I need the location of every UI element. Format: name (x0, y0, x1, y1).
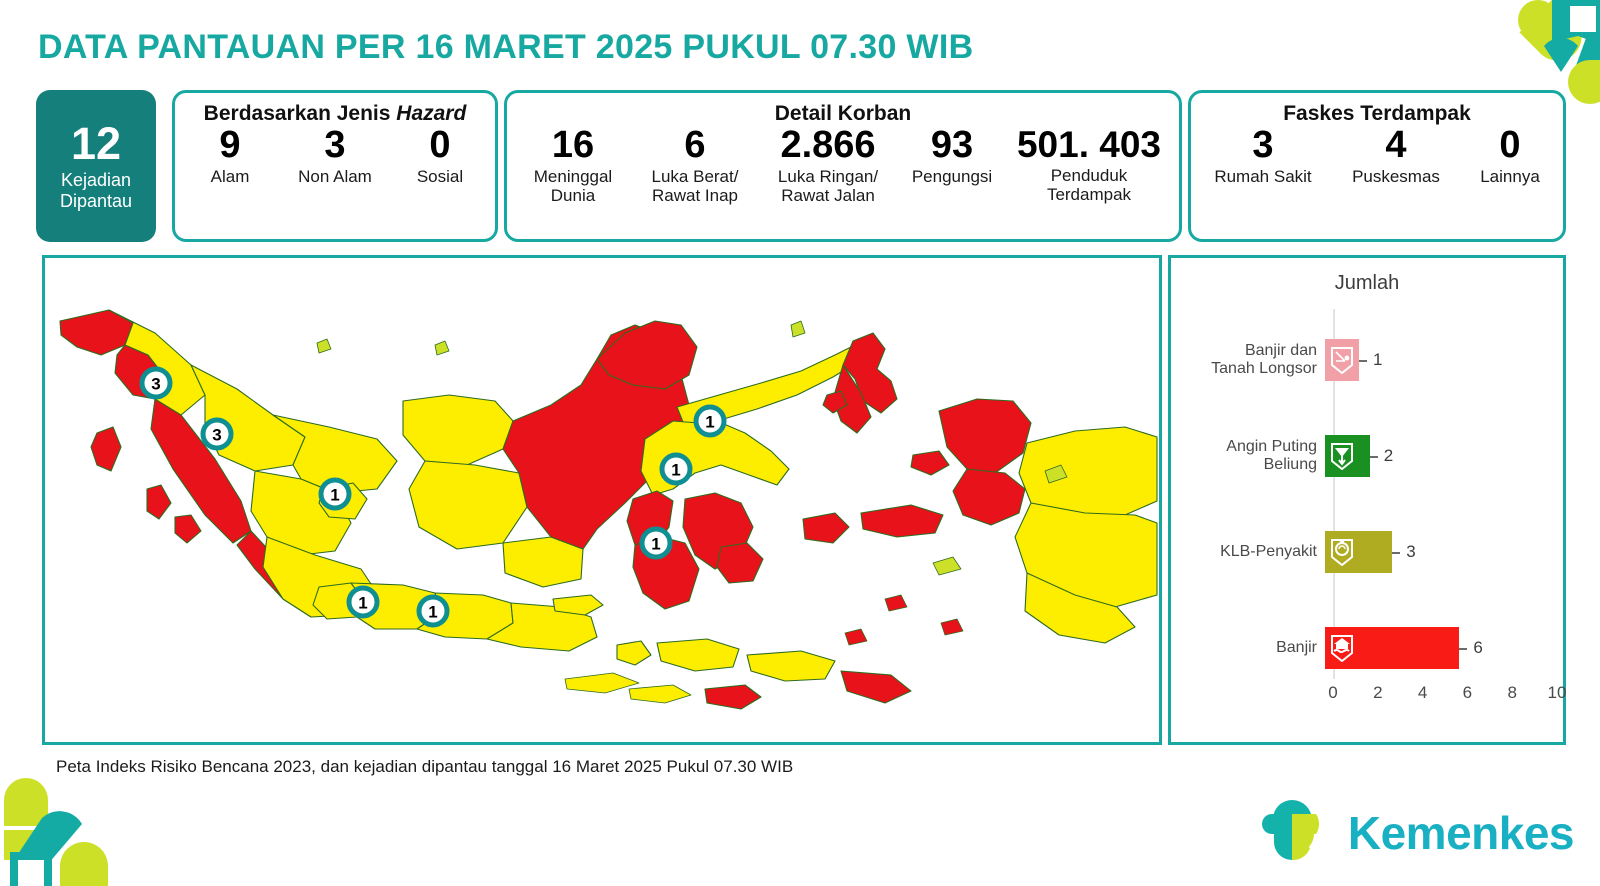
faskes-panel-title: Faskes Terdampak (1191, 102, 1563, 126)
hazard-title-normal: Berdasarkan Jenis (204, 102, 397, 125)
region-kalteng (409, 461, 527, 549)
hazard-item-alam: 9 Alam (184, 126, 276, 186)
islet-group-c (791, 321, 805, 337)
chart-bar-label: Banjir (1185, 639, 1325, 657)
korban-item-luka-berat: 6 Luka Berat/ Rawat Inap (632, 126, 758, 205)
korban-pengungsi-label: Pengungsi (902, 167, 1002, 186)
landslide-icon (1327, 344, 1357, 376)
map-marker-3[interactable]: 1 (321, 480, 349, 508)
hazard-title-italic: Hazard (396, 102, 466, 125)
korban-item-penduduk: 501. 403 Penduduk Terdampak (1006, 126, 1172, 204)
chart-x-tick: 8 (1507, 683, 1516, 703)
map-marker-6[interactable]: 1 (696, 407, 724, 435)
chart-bar-wrap: 1 (1325, 337, 1359, 383)
chart-bar-label: Angin PutingBeliung (1185, 438, 1325, 474)
map-marker-count: 1 (358, 594, 367, 613)
island-lombok-sumbawa (657, 639, 739, 671)
map-marker-count: 3 (212, 426, 221, 445)
disease-outbreak-icon (1327, 536, 1357, 568)
chart-title: Jumlah (1171, 272, 1563, 295)
indonesia-risk-map[interactable]: 33111111 (45, 258, 1159, 742)
chart-x-tick: 0 (1328, 683, 1337, 703)
map-marker-7[interactable]: 1 (662, 455, 690, 483)
flood-house-icon (1327, 632, 1357, 664)
islet-group-b (435, 341, 449, 355)
faskes-puskesmas-value: 4 (1336, 126, 1456, 166)
chart-bar-label: Banjir danTanah Longsor (1185, 342, 1325, 378)
hazard-panel-title: Berdasarkan Jenis Hazard (175, 102, 495, 126)
korban-panel-title: Detail Korban (507, 102, 1179, 126)
kemenkes-brand: Kemenkes (1252, 794, 1574, 872)
region-papua-barat-south (953, 469, 1025, 525)
hazard-alam-value: 9 (188, 126, 272, 166)
hazard-item-non-alam: 3 Non Alam (276, 126, 394, 186)
korban-luka-ringan-value: 2.866 (762, 126, 894, 166)
map-marker-count: 1 (671, 461, 680, 480)
faskes-lainnya-label: Lainnya (1464, 167, 1556, 186)
risk-map-panel[interactable]: 33111111 (42, 255, 1162, 745)
chart-x-tick: 4 (1418, 683, 1427, 703)
korban-luka-berat-label: Luka Berat/ Rawat Inap (636, 167, 754, 205)
island-sumba (705, 685, 761, 709)
hazard-sosial-label: Sosial (398, 167, 482, 186)
kejadian-value: 12 (71, 121, 121, 166)
chart-bar-wrap: 6 (1325, 625, 1459, 671)
map-marker-count: 3 (151, 375, 160, 394)
hazard-alam-label: Alam (188, 167, 272, 186)
islet-group-a (317, 339, 331, 353)
island-mentawai-2 (175, 515, 201, 543)
chart-bar-row: Banjir6 (1185, 625, 1549, 671)
chart-x-tick: 2 (1373, 683, 1382, 703)
chart-bar-value: 2 (1370, 446, 1393, 466)
island-nias (91, 427, 121, 471)
faskes-rumah-sakit-value: 3 (1198, 126, 1328, 166)
map-marker-count: 1 (330, 486, 339, 505)
faskes-rumah-sakit-label: Rumah Sakit (1198, 167, 1328, 186)
faskes-panel: Faskes Terdampak 3 Rumah Sakit 4 Puskesm… (1188, 90, 1566, 242)
chart-bar-row: Angin PutingBeliung2 (1185, 433, 1549, 479)
region-papua-barat-red (939, 399, 1031, 473)
chart-bar-wrap: 2 (1325, 433, 1370, 479)
chart-bar-wrap: 3 (1325, 529, 1392, 575)
chart-bar[interactable]: 3 (1325, 531, 1392, 573)
map-marker-count: 1 (428, 603, 437, 622)
korban-meninggal-value: 16 (518, 126, 628, 166)
chart-x-tick: 10 (1548, 683, 1567, 703)
korban-item-luka-ringan: 2.866 Luka Ringan/ Rawat Jalan (758, 126, 898, 205)
faskes-item-puskesmas: 4 Puskesmas (1332, 126, 1460, 186)
chart-bar[interactable]: 1 (1325, 339, 1359, 381)
hazard-item-sosial: 0 Sosial (394, 126, 486, 186)
island-timor (841, 671, 911, 703)
map-marker-8[interactable]: 1 (642, 529, 670, 557)
chart-bar-label: KLB-Penyakit (1185, 543, 1325, 561)
stats-row: 12 Kejadian Dipantau Berdasarkan Jenis H… (36, 90, 1566, 242)
faskes-item-rumah-sakit: 3 Rumah Sakit (1194, 126, 1332, 186)
korban-panel: Detail Korban 16 Meninggal Dunia 6 Luka … (504, 90, 1182, 242)
faskes-puskesmas-label: Puskesmas (1336, 167, 1456, 186)
korban-luka-berat-value: 6 (636, 126, 754, 166)
island-flores (747, 651, 835, 681)
map-marker-2[interactable]: 3 (203, 420, 231, 448)
chart-bar[interactable]: 2 (1325, 435, 1370, 477)
korban-meninggal-label: Meninggal Dunia (518, 167, 628, 205)
islet-group-f (885, 595, 907, 611)
map-marker-count: 1 (651, 535, 660, 554)
kejadian-dipantau-card: 12 Kejadian Dipantau (36, 90, 156, 242)
island-seram (861, 505, 943, 537)
map-marker-5[interactable]: 1 (419, 597, 447, 625)
faskes-lainnya-value: 0 (1464, 126, 1556, 166)
map-marker-1[interactable]: 3 (142, 369, 170, 397)
island-madura (553, 595, 603, 615)
decoration-bottom-left (0, 770, 140, 886)
korban-item-meninggal: 16 Meninggal Dunia (514, 126, 632, 205)
hazard-count-chart-panel: Jumlah Banjir danTanah Longsor1Angin Put… (1168, 255, 1566, 745)
region-papua-yellow (1019, 427, 1157, 515)
hazard-panel: Berdasarkan Jenis Hazard 9 Alam 3 Non Al… (172, 90, 498, 242)
kemenkes-wordmark: Kemenkes (1348, 806, 1574, 860)
hazard-non-alam-label: Non Alam (280, 167, 390, 186)
map-caption: Peta Indeks Risiko Bencana 2023, dan kej… (56, 757, 793, 777)
chart-bar-value: 3 (1392, 542, 1415, 562)
korban-pengungsi-value: 93 (902, 126, 1002, 166)
dashboard-root: DATA PANTAUAN PER 16 MARET 2025 PUKUL 07… (0, 0, 1600, 886)
chart-plot-area: Banjir danTanah Longsor1Angin PutingBeli… (1185, 303, 1549, 711)
chart-bar[interactable]: 6 (1325, 627, 1459, 669)
korban-luka-ringan-label: Luka Ringan/ Rawat Jalan (762, 167, 894, 205)
islet-group-i (629, 685, 691, 703)
kemenkes-logo-icon (1252, 794, 1336, 872)
islet-group-e (933, 557, 961, 575)
korban-penduduk-label: Penduduk Terdampak (1010, 166, 1168, 204)
kejadian-label: Kejadian Dipantau (60, 170, 132, 211)
region-kalbar (403, 395, 513, 465)
island-buru (803, 513, 849, 543)
chart-x-tick: 6 (1463, 683, 1472, 703)
kejadian-label-line1: Kejadian (61, 170, 131, 190)
islet-group-j (565, 673, 639, 693)
chart-bar-row: KLB-Penyakit3 (1185, 529, 1549, 575)
chart-x-axis-ticks: 0246810 (1333, 683, 1557, 707)
tornado-icon (1327, 440, 1357, 472)
island-mentawai-1 (147, 485, 171, 519)
page-title: DATA PANTAUAN PER 16 MARET 2025 PUKUL 07… (38, 28, 973, 67)
chart-bar-row: Banjir danTanah Longsor1 (1185, 337, 1549, 383)
island-bali (617, 641, 651, 665)
hazard-sosial-value: 0 (398, 126, 482, 166)
chart-bar-value: 1 (1359, 350, 1382, 370)
hazard-non-alam-value: 3 (280, 126, 390, 166)
faskes-item-lainnya: 0 Lainnya (1460, 126, 1560, 186)
region-sultra-east (717, 543, 763, 583)
islet-group-g (845, 629, 867, 645)
islet-group-h (941, 619, 963, 635)
korban-penduduk-value: 501. 403 (1010, 126, 1168, 165)
chart-bar-value: 6 (1459, 638, 1482, 658)
map-marker-count: 1 (705, 413, 714, 432)
map-marker-4[interactable]: 1 (349, 588, 377, 616)
kejadian-label-line2: Dipantau (60, 191, 132, 211)
korban-item-pengungsi: 93 Pengungsi (898, 126, 1006, 186)
island-obi (911, 451, 949, 475)
